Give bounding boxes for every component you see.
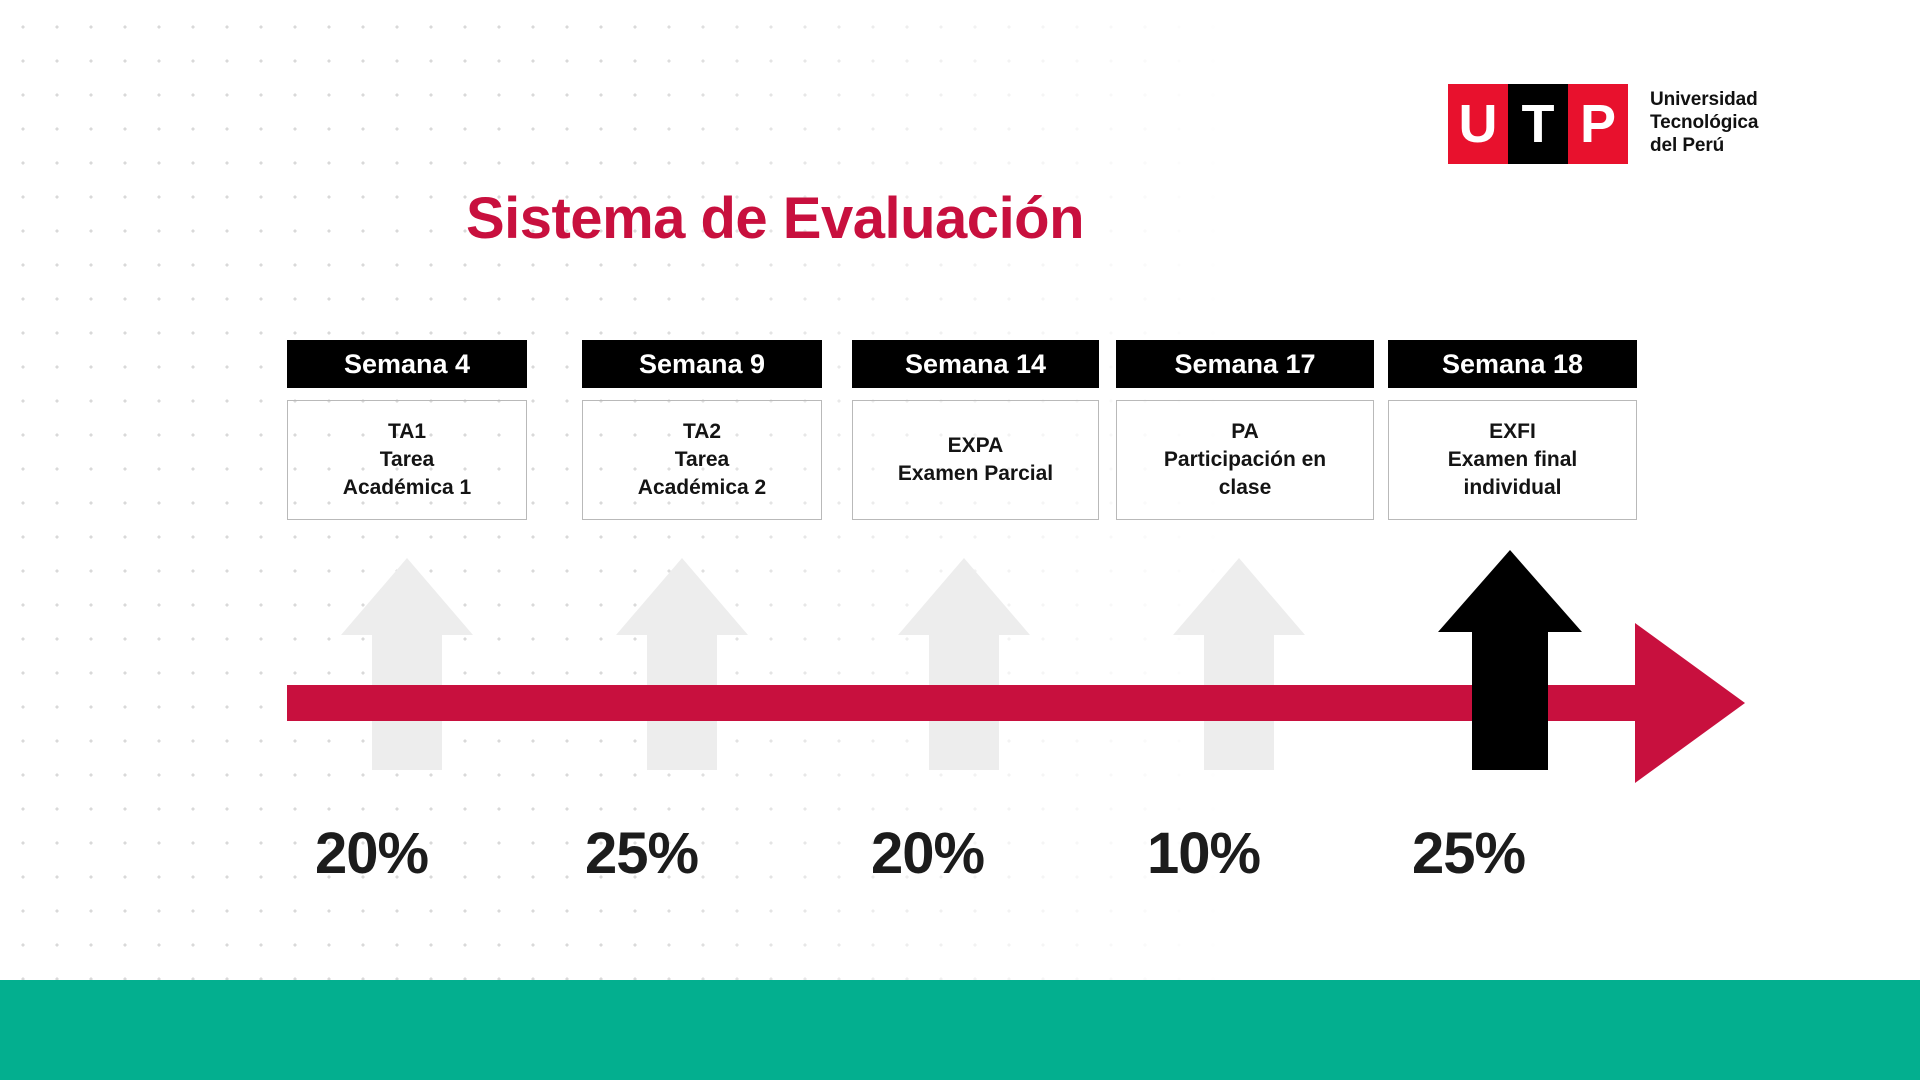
percent-label-4: 10% — [1147, 820, 1260, 887]
item-code-3: EXPA — [948, 432, 1004, 460]
evaluation-item-box-4: PA Participación en clase — [1116, 400, 1374, 520]
evaluation-column-3: Semana 14 EXPA Examen Parcial — [852, 340, 1099, 555]
item-desc-line1-4: Participación en — [1164, 446, 1326, 474]
logo-letter-u: U — [1448, 84, 1508, 164]
up-arrow-icon-4 — [1173, 558, 1305, 770]
week-badge-2: Semana 9 — [582, 340, 822, 388]
item-desc-line1-5: Examen final — [1448, 446, 1578, 474]
week-badge-4: Semana 17 — [1116, 340, 1374, 388]
item-desc-line1-2: Tarea — [675, 446, 729, 474]
page-title: Sistema de Evaluación — [0, 185, 1735, 252]
timeline-graphic — [0, 540, 1920, 810]
week-badge-5: Semana 18 — [1388, 340, 1637, 388]
item-desc-line2-2: Académica 2 — [638, 474, 766, 502]
item-code-1: TA1 — [388, 418, 426, 446]
week-badge-3: Semana 14 — [852, 340, 1099, 388]
item-code-2: TA2 — [683, 418, 721, 446]
evaluation-column-4: Semana 17 PA Participación en clase — [1116, 340, 1374, 555]
item-desc-line2-1: Académica 1 — [343, 474, 471, 502]
percent-label-2: 25% — [585, 820, 698, 887]
up-arrow-icon-1 — [341, 558, 473, 770]
logo-letter-p: P — [1568, 84, 1628, 164]
item-desc-line2-5: individual — [1463, 474, 1561, 502]
logo-name-line-3: del Perú — [1650, 134, 1758, 157]
up-arrow-icon-5 — [1438, 550, 1582, 770]
utp-logo-mark: U T P — [1448, 84, 1628, 164]
item-code-4: PA — [1231, 418, 1259, 446]
up-arrow-icon-2 — [616, 558, 748, 770]
week-badge-1: Semana 4 — [287, 340, 527, 388]
footer-accent-band — [0, 980, 1920, 1080]
logo-name-line-2: Tecnológica — [1650, 111, 1758, 134]
percent-label-1: 20% — [315, 820, 428, 887]
item-desc-line2-4: clase — [1219, 474, 1272, 502]
utp-logo-wordmark: Universidad Tecnológica del Perú — [1650, 84, 1758, 158]
evaluation-columns: Semana 4 TA1 Tarea Académica 1 Semana 9 … — [287, 340, 1637, 555]
evaluation-item-box-2: TA2 Tarea Académica 2 — [582, 400, 822, 520]
timeline-up-arrows-gray — [341, 558, 1305, 770]
percent-labels: 20% 25% 20% 10% 25% — [287, 820, 1637, 910]
item-desc-line1-1: Tarea — [380, 446, 434, 474]
utp-logo: U T P Universidad Tecnológica del Perú — [1448, 84, 1758, 164]
evaluation-item-box-5: EXFI Examen final individual — [1388, 400, 1637, 520]
percent-label-3: 20% — [871, 820, 984, 887]
evaluation-column-5: Semana 18 EXFI Examen final individual — [1388, 340, 1637, 555]
evaluation-item-box-3: EXPA Examen Parcial — [852, 400, 1099, 520]
item-code-5: EXFI — [1489, 418, 1536, 446]
evaluation-item-box-1: TA1 Tarea Académica 1 — [287, 400, 527, 520]
logo-name-line-1: Universidad — [1650, 88, 1758, 111]
up-arrow-icon-3 — [898, 558, 1030, 770]
item-desc-line1-3: Examen Parcial — [898, 460, 1053, 488]
percent-label-5: 25% — [1412, 820, 1525, 887]
evaluation-column-2: Semana 9 TA2 Tarea Académica 2 — [582, 340, 822, 555]
logo-letter-t: T — [1508, 84, 1568, 164]
evaluation-column-1: Semana 4 TA1 Tarea Académica 1 — [287, 340, 527, 555]
